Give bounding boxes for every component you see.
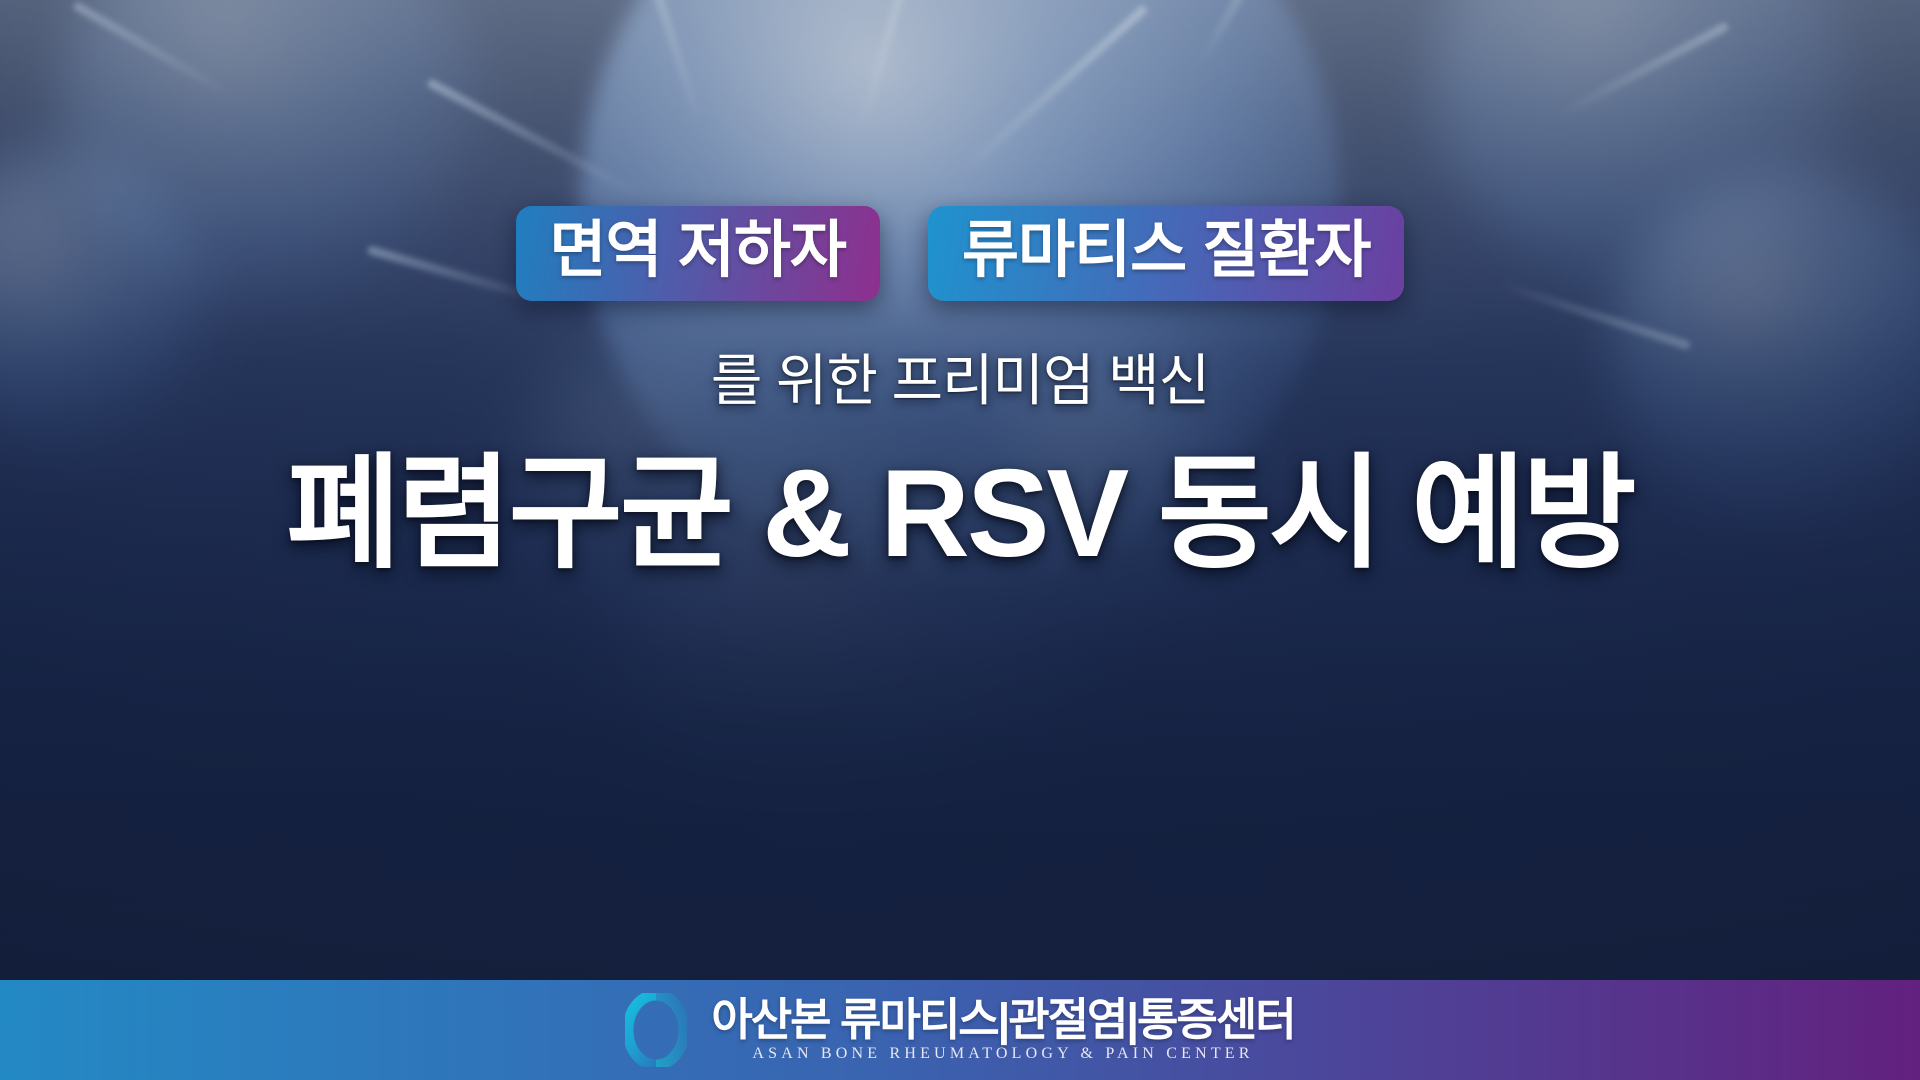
audience-pill-label: 류마티스 질환자 (962, 218, 1371, 283)
banner-stage: 면역 저하자 류마티스 질환자 를 위한 프리미엄 백신 폐렴구균 & RSV … (0, 0, 1920, 1080)
banner-subtitle: 를 위한 프리미엄 백신 (0, 336, 1920, 417)
audience-pill-immunocompromised: 면역 저하자 (516, 206, 880, 301)
footer-brand-english: ASAN BONE RHEUMATOLOGY & PAIN CENTER (752, 1045, 1253, 1063)
audience-pill-row: 면역 저하자 류마티스 질환자 (0, 206, 1920, 301)
audience-pill-label: 면역 저하자 (550, 218, 846, 283)
footer-brand-korean: 아산본 류마티스|관절염|통증센터 (711, 997, 1294, 1043)
footer-bar: 아산본 류마티스|관절염|통증센터 ASAN BONE RHEUMATOLOGY… (0, 980, 1920, 1080)
audience-pill-rheumatic: 류마티스 질환자 (928, 206, 1405, 301)
footer-brand: 아산본 류마티스|관절염|통증센터 ASAN BONE RHEUMATOLOGY… (711, 997, 1294, 1064)
ring-logo-icon (625, 993, 687, 1067)
banner-content: 면역 저하자 류마티스 질환자 를 위한 프리미엄 백신 폐렴구균 & RSV … (0, 0, 1920, 1080)
banner-headline: 폐렴구균 & RSV 동시 예방 (0, 448, 1920, 582)
